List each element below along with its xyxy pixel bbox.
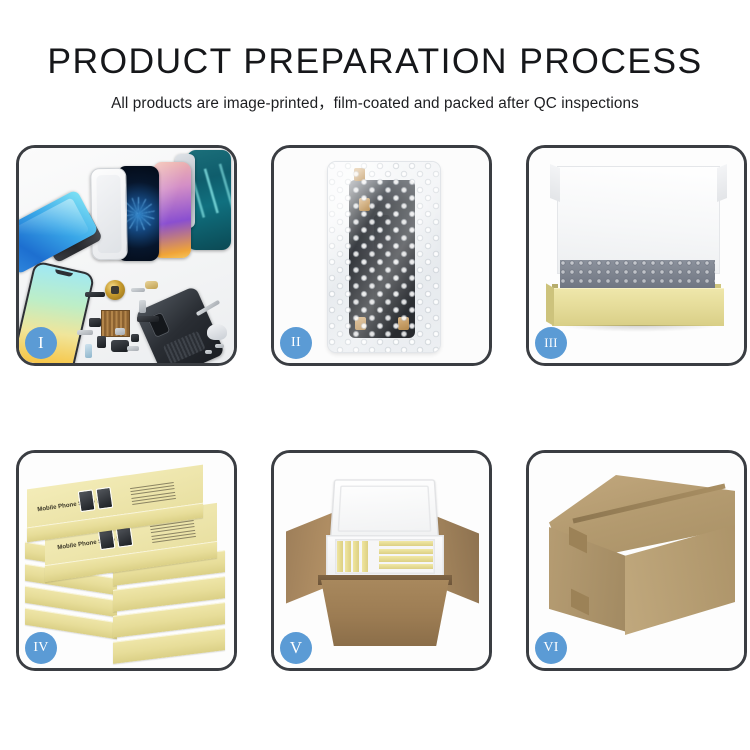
foam-cavity [335, 539, 435, 574]
step-badge-2: II [280, 327, 312, 359]
step-badge-6: VI [535, 632, 567, 664]
step-badge-1: I [25, 327, 57, 359]
process-step-grid: I II II [16, 145, 738, 671]
spare-part [85, 292, 105, 297]
spare-part [97, 336, 106, 348]
process-step-6[interactable]: VI [526, 450, 747, 671]
yellow-box [345, 541, 351, 572]
box-lid-open [557, 166, 720, 274]
phone-thumbnail [78, 489, 96, 512]
speaker-coil-part [105, 280, 125, 300]
yellow-box [362, 541, 368, 572]
spare-part [127, 346, 139, 351]
page-subtitle: All products are image-printed，film-coat… [0, 82, 750, 113]
process-step-5[interactable]: V [271, 450, 492, 671]
spare-part [137, 316, 159, 322]
process-step-4[interactable]: Mobile Phone Spare Parts Mobile Phone Sp… [16, 450, 237, 671]
glove-hand [207, 324, 227, 340]
yellow-boxes-vertical [337, 541, 368, 572]
yellow-box [337, 541, 343, 572]
spare-part [89, 318, 101, 327]
bubble-wrap-bag [328, 162, 440, 352]
page-header: PRODUCT PREPARATION PROCESS All products… [0, 0, 750, 113]
spare-part [85, 344, 92, 358]
page-title: PRODUCT PREPARATION PROCESS [0, 0, 750, 82]
yellow-box [379, 541, 433, 546]
phone-notch [55, 269, 73, 277]
blue-flex-screen [19, 189, 99, 275]
spare-part [115, 328, 125, 335]
process-step-1[interactable]: I [16, 145, 237, 366]
spare-part [145, 281, 158, 289]
spare-part [131, 334, 139, 342]
yellow-box [379, 556, 433, 561]
step-badge-3: III [535, 327, 567, 359]
box-front-panel [552, 288, 724, 326]
step-badge-5: V [280, 632, 312, 664]
foam-lid [330, 479, 439, 539]
box-shadow [559, 325, 719, 332]
process-step-3[interactable]: III [526, 145, 747, 366]
spare-part [131, 288, 145, 292]
yellow-box [379, 564, 433, 569]
spare-part [215, 344, 224, 348]
bubble-texture [328, 162, 440, 352]
spare-part [205, 350, 212, 354]
carton-body [321, 580, 449, 646]
spare-part [77, 330, 93, 335]
bubble-wrap-filling [560, 260, 715, 290]
phone-thumbnail [96, 487, 114, 510]
yellow-box [353, 541, 359, 572]
step-badge-4: IV [25, 632, 57, 664]
yellow-box [379, 549, 433, 554]
glass-screen-protector [90, 168, 128, 261]
yellow-boxes-horizontal [379, 541, 433, 569]
process-step-2[interactable]: II [271, 145, 492, 366]
spare-part [139, 300, 146, 313]
